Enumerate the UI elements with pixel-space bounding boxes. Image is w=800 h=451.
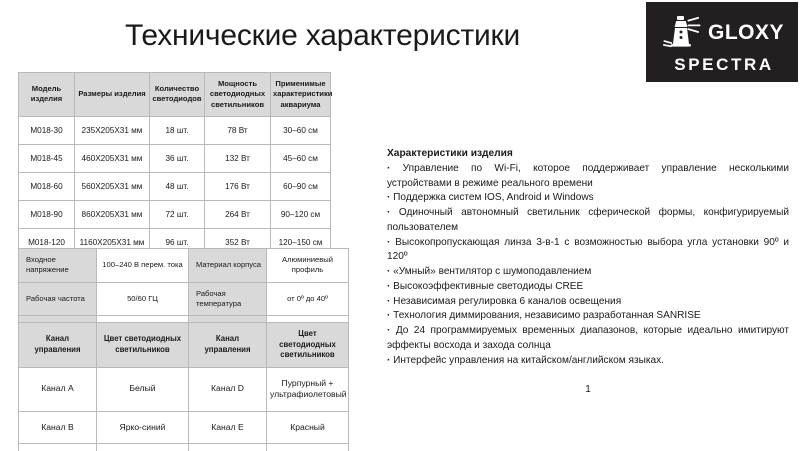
logo-subbrand: SPECTRA [674,56,773,73]
table-row: M018-60 560X205X31 мм 48 шт. 176 Вт 60–9… [19,172,331,200]
lighthouse-icon [660,14,704,52]
cell-aquarium-size: 30–60 см [271,116,331,144]
cell-model: M018-60 [19,172,75,200]
feature-item: «Умный» вентилятор с шумоподавлением [387,265,789,280]
cell-label: Рабочая температура [189,282,267,316]
features-section: Характеристики изделия Управление по Wi-… [387,148,789,368]
cell-led-count: 18 шт. [150,116,205,144]
column-header: Канал управления [189,323,267,368]
table-header-row: Канал управления Цвет светодиодных свети… [19,323,349,368]
feature-item: Поддержка систем IOS, Android и Windows [387,191,789,206]
brand-logo: GLOXY SPECTRA [646,2,798,82]
cell-led-count: 48 шт. [150,172,205,200]
logo-row: GLOXY [660,14,784,52]
feature-item: Интерфейс управления на китайском/англий… [387,354,789,369]
table-channel-colors: Канал управления Цвет светодиодных свети… [18,322,349,451]
column-header: Цвет светодиодных светильников [97,323,189,368]
table-row: M018-45 460X205X31 мм 36 шт. 132 Вт 45–6… [19,144,331,172]
cell-color: Ярко-синий [97,411,189,444]
cell-color: Белый [97,367,189,411]
cell-value: Алюминиевый профиль [267,249,349,283]
cell-aquarium-size: 60–90 см [271,172,331,200]
column-header: Канал управления [19,323,97,368]
cell-label: Материал корпуса [189,249,267,283]
column-header: Цвет светодиодных светильников [267,323,349,368]
table-row: M018-90 860X205X31 мм 72 шт. 264 Вт 90–1… [19,200,331,228]
cell-color: Красный [267,411,349,444]
cell-channel: Канал F [189,444,267,451]
table-row: Канал B Ярко-синий Канал E Красный [19,411,349,444]
cell-aquarium-size: 90–120 см [271,200,331,228]
cell-label: Входное напряжение [19,249,97,283]
slide-page: Технические характеристики [0,0,800,451]
cell-color: Пурпурный + ультрафиолетовый [267,367,349,411]
cell-dimensions: 560X205X31 мм [75,172,150,200]
cell-channel: Канал D [189,367,267,411]
cell-model: M018-90 [19,200,75,228]
cell-power: 78 Вт [205,116,271,144]
cell-power: 176 Вт [205,172,271,200]
page-title: Технические характеристики [0,19,645,53]
table-product-specs: Модель изделия Размеры изделия Количеств… [18,72,331,257]
cell-value: 100–240 В перем. тока [97,249,189,283]
feature-item: Высокопропускающая линза 3-в-1 с возможн… [387,236,789,265]
column-header: Мощность светодиодных светильников [205,73,271,117]
table-row: Входное напряжение 100–240 В перем. тока… [19,249,349,283]
cell-channel: Канал C [19,444,97,451]
cell-dimensions: 235X205X31 мм [75,116,150,144]
cell-value: 50/60 ГЦ [97,282,189,316]
feature-item: Управление по Wi-Fi, которое поддерживае… [387,162,789,191]
cell-power: 264 Вт [205,200,271,228]
cell-color: Зеленый [267,444,349,451]
features-heading: Характеристики изделия [387,148,789,159]
cell-dimensions: 860X205X31 мм [75,200,150,228]
table-row: Рабочая частота 50/60 ГЦ Рабочая темпера… [19,282,349,316]
column-header: Размеры изделия [75,73,150,117]
table-row: Канал C Синий Канал F Зеленый [19,444,349,451]
cell-label: Рабочая частота [19,282,97,316]
cell-value: от 0º до 40º [267,282,349,316]
cell-aquarium-size: 45–60 см [271,144,331,172]
feature-item: До 24 программируемых временных диапазон… [387,324,789,353]
cell-power: 132 Вт [205,144,271,172]
cell-channel: Канал B [19,411,97,444]
page-number: 1 [387,384,789,395]
cell-channel: Канал A [19,367,97,411]
feature-item: Высокоэффективные светодиоды CREE [387,280,789,295]
cell-channel: Канал E [189,411,267,444]
column-header: Количество светодиодов [150,73,205,117]
feature-item: Независимая регулировка 6 каналов освеще… [387,295,789,310]
cell-model: M018-30 [19,116,75,144]
cell-led-count: 72 шт. [150,200,205,228]
column-header: Применимые характеристики аквариума [271,73,331,117]
column-header: Модель изделия [19,73,75,117]
cell-model: M018-45 [19,144,75,172]
cell-dimensions: 460X205X31 мм [75,144,150,172]
table-header-row: Модель изделия Размеры изделия Количеств… [19,73,331,117]
feature-item: Технология диммирования, независимо разр… [387,309,789,324]
cell-color: Синий [97,444,189,451]
table-row: M018-30 235X205X31 мм 18 шт. 78 Вт 30–60… [19,116,331,144]
logo-wordmark: GLOXY [708,22,784,43]
feature-item: Одиночный автономный светильник сферичес… [387,206,789,235]
cell-led-count: 36 шт. [150,144,205,172]
table-row: Канал A Белый Канал D Пурпурный + ультра… [19,367,349,411]
